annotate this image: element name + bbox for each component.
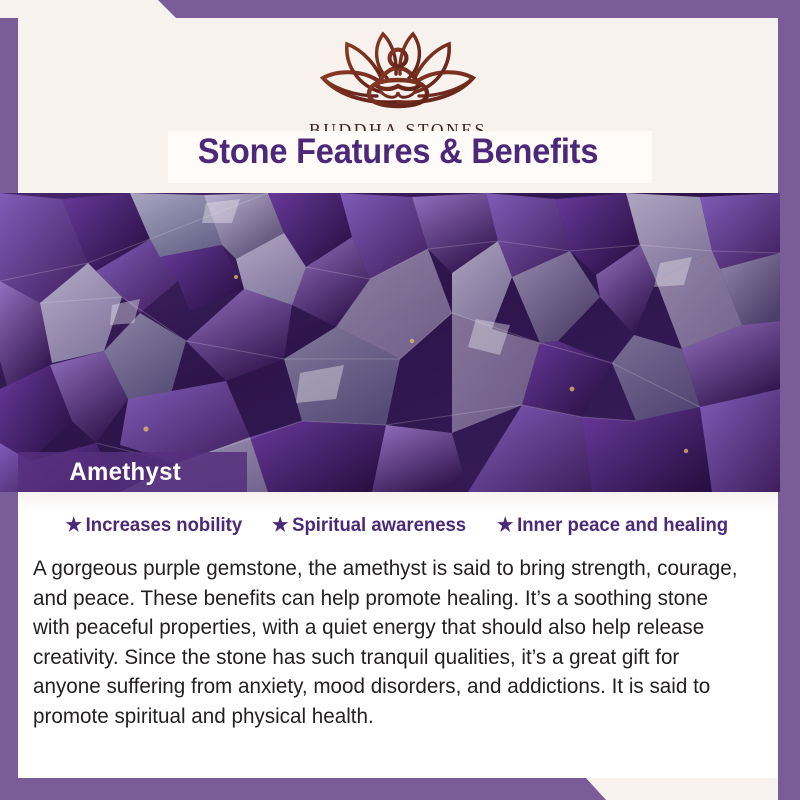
benefit-item-3: ★ Inner peace and healing <box>497 514 728 537</box>
page-title: Stone Features & Benefits <box>45 132 752 172</box>
benefit-item-2: ★ Spiritual awareness <box>272 514 466 537</box>
frame-top-bar <box>0 0 800 18</box>
benefit-item-1: ★ Increases nobility <box>66 514 242 537</box>
amethyst-crystal-photo <box>0 193 780 492</box>
content-top-fade <box>18 492 778 510</box>
stone-name-banner: Amethyst <box>18 452 247 492</box>
star-icon: ★ <box>497 516 513 535</box>
lotus-meditation-logo-icon <box>303 22 493 118</box>
frame-bottom-bar <box>0 778 800 800</box>
benefit-label-2: Spiritual awareness <box>292 514 466 537</box>
stone-name-text: Amethyst <box>69 458 181 487</box>
stone-info-card: BUDDHA STONES Stone Features & Benefits <box>0 0 800 800</box>
frame-right-bar <box>778 0 800 800</box>
benefit-label-3: Inner peace and healing <box>517 514 728 537</box>
benefit-label-1: Increases nobility <box>86 514 242 537</box>
card-header: BUDDHA STONES Stone Features & Benefits <box>18 18 778 193</box>
star-icon: ★ <box>272 516 288 535</box>
card-body: ★ Increases nobility ★ Spiritual awarene… <box>18 492 778 778</box>
amethyst-crystal-illustration <box>0 193 780 492</box>
star-icon: ★ <box>66 516 82 535</box>
stone-description: A gorgeous purple gemstone, the amethyst… <box>33 554 743 731</box>
logo-figure-head <box>390 50 407 67</box>
brand-logo: BUDDHA STONES <box>18 22 778 141</box>
benefits-list: ★ Increases nobility ★ Spiritual awarene… <box>18 514 778 537</box>
